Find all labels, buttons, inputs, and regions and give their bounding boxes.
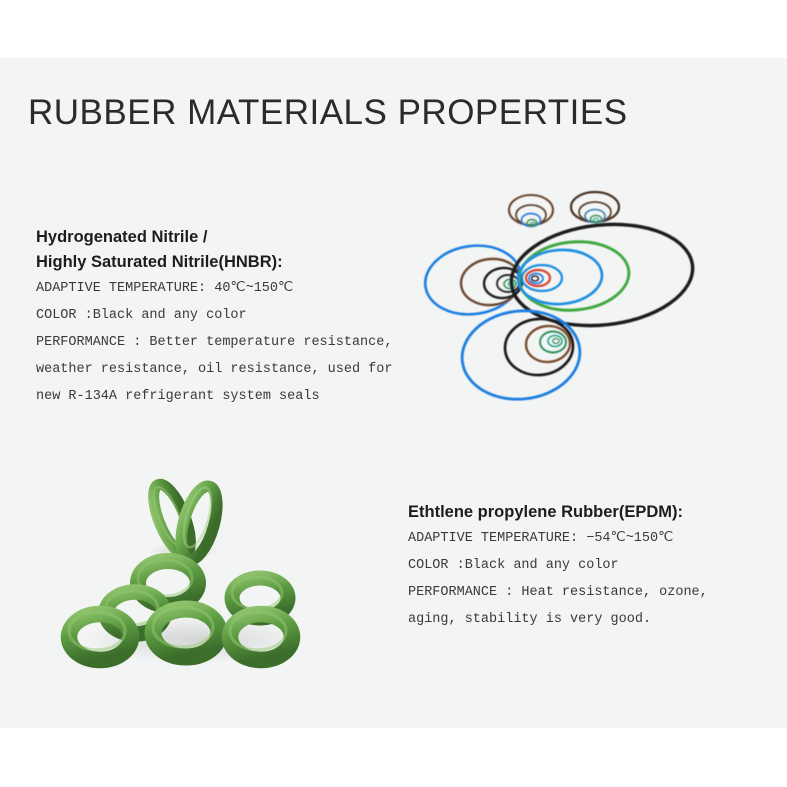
- multi-color-o-ring-assortment-photo: [395, 175, 725, 435]
- epdm-heading-line-1: Ethtlene propylene Rubber(EPDM):: [408, 500, 708, 525]
- green-o-ring-stack-photo: [55, 465, 330, 680]
- hnbr-text-block: Hydrogenated Nitrile / Highly Saturated …: [36, 225, 392, 410]
- o-ring-group-left: [421, 240, 526, 321]
- hnbr-adaptive-temperature: ADAPTIVE TEMPERATURE: 40℃~150℃: [36, 275, 392, 302]
- hnbr-performance-line-1: PERFORMANCE : Better temperature resista…: [36, 329, 392, 356]
- epdm-performance-line-1: PERFORMANCE : Heat resistance, ozone,: [408, 579, 708, 606]
- epdm-adaptive-temperature: ADAPTIVE TEMPERATURE: −54℃~150℃: [408, 525, 708, 552]
- page-root: RUBBER MATERIALS PROPERTIES Hydrogenated…: [0, 0, 787, 787]
- o-ring-group-center: [506, 216, 697, 334]
- epdm-color: COLOR :Black and any color: [408, 552, 708, 579]
- page-title: RUBBER MATERIALS PROPERTIES: [28, 93, 628, 133]
- green-o-ring-illustration: [55, 465, 330, 680]
- hnbr-performance-line-3: new R-134A refrigerant system seals: [36, 383, 392, 410]
- o-ring-assortment-illustration: [395, 175, 725, 435]
- o-ring-group-top-right: [571, 192, 619, 223]
- hnbr-performance-line-2: weather resistance, oil resistance, used…: [36, 356, 392, 383]
- hnbr-heading-line-2: Highly Saturated Nitrile(HNBR):: [36, 250, 392, 275]
- epdm-text-block: Ethtlene propylene Rubber(EPDM): ADAPTIV…: [408, 500, 708, 633]
- epdm-performance-line-2: aging, stability is very good.: [408, 606, 708, 633]
- o-ring-group-bottom: [458, 305, 585, 405]
- o-ring-group-top-left: [509, 195, 553, 227]
- hnbr-heading-line-1: Hydrogenated Nitrile /: [36, 225, 392, 250]
- hnbr-color: COLOR :Black and any color: [36, 302, 392, 329]
